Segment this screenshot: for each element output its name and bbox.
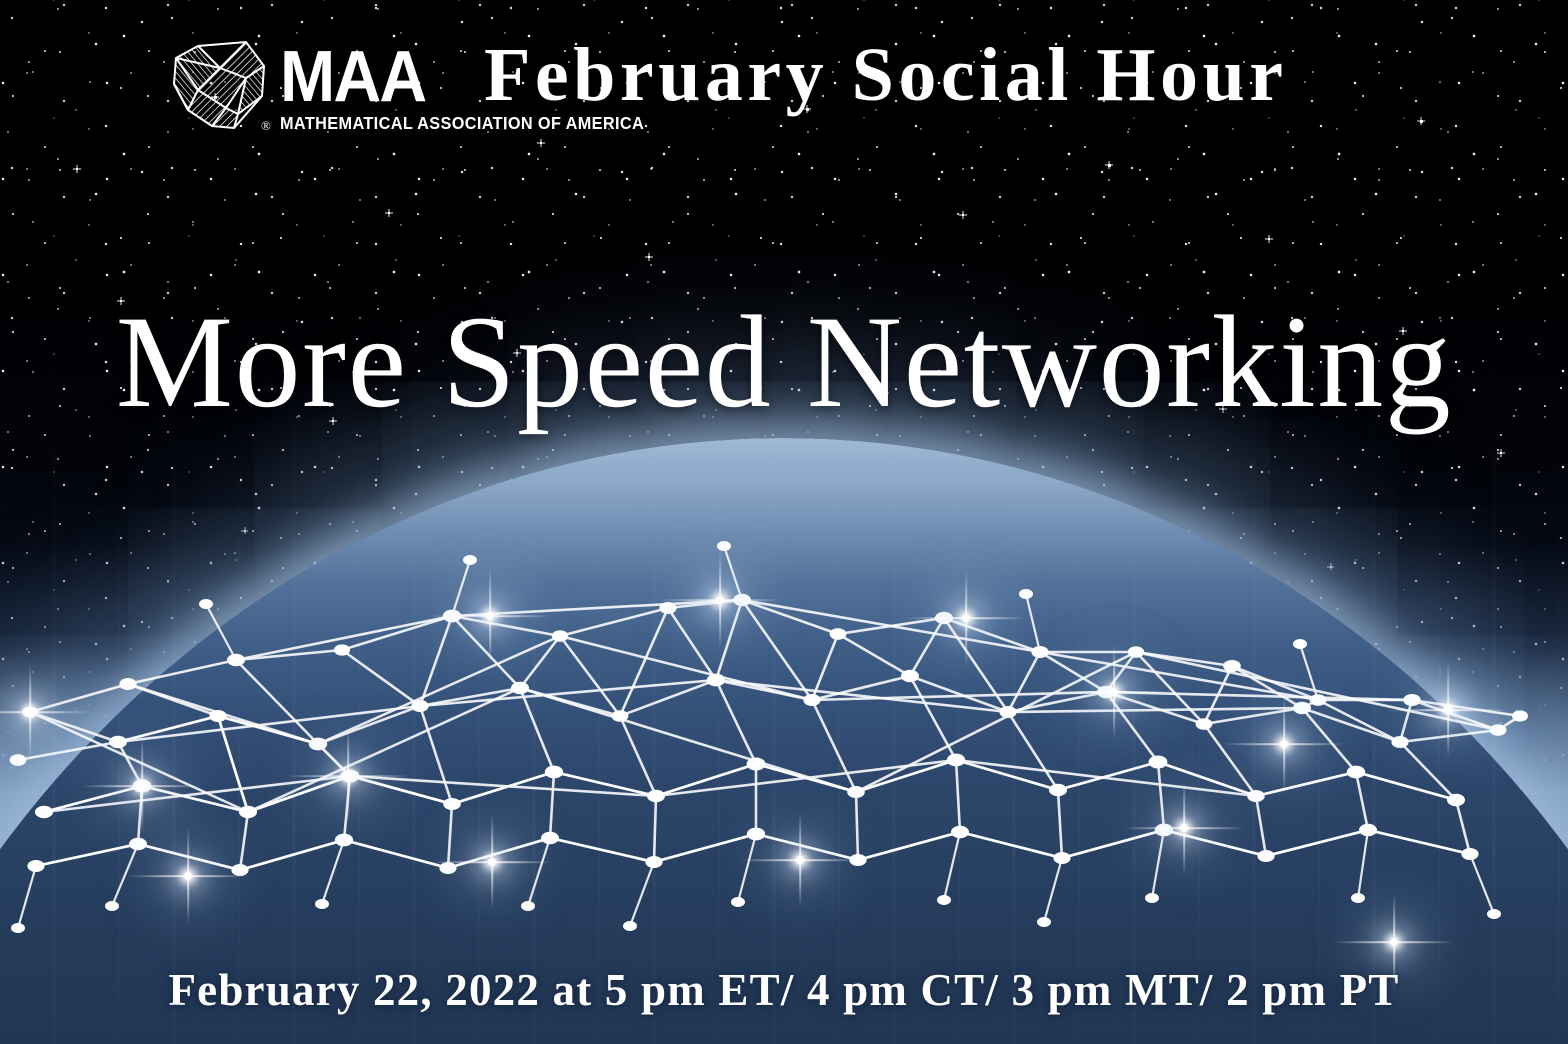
node-glow-burst: [1180, 824, 1188, 832]
node-glow-burst: [962, 614, 970, 622]
event-datetime: February 22, 2022 at 5 pm ET/ 4 pm CT/ 3…: [0, 964, 1568, 1016]
node-glow-burst: [796, 856, 804, 864]
node-glow-burst: [1110, 688, 1118, 696]
node-glow-burst: [1444, 706, 1452, 714]
node-glow-burst: [1280, 740, 1288, 748]
event-title: More Speed Networking: [0, 296, 1568, 428]
event-promo-poster: ® MAA MATHEMATICAL ASSOCIATION OF AMERIC…: [0, 0, 1568, 1044]
node-glow-burst: [138, 782, 146, 790]
global-network-mesh: [0, 0, 1568, 1044]
node-glow-burst: [488, 858, 496, 866]
node-glow-burst: [486, 612, 494, 620]
node-glow-burst: [716, 596, 724, 604]
registered-mark: ®: [261, 118, 271, 133]
node-glow-burst: [26, 708, 34, 716]
node-glow-burst: [184, 872, 192, 880]
node-glow-burst: [1390, 938, 1398, 946]
maa-icosahedron-logo-icon: ®: [168, 22, 276, 142]
event-series-headline: February Social Hour: [484, 36, 1288, 116]
node-glow-burst: [344, 772, 352, 780]
